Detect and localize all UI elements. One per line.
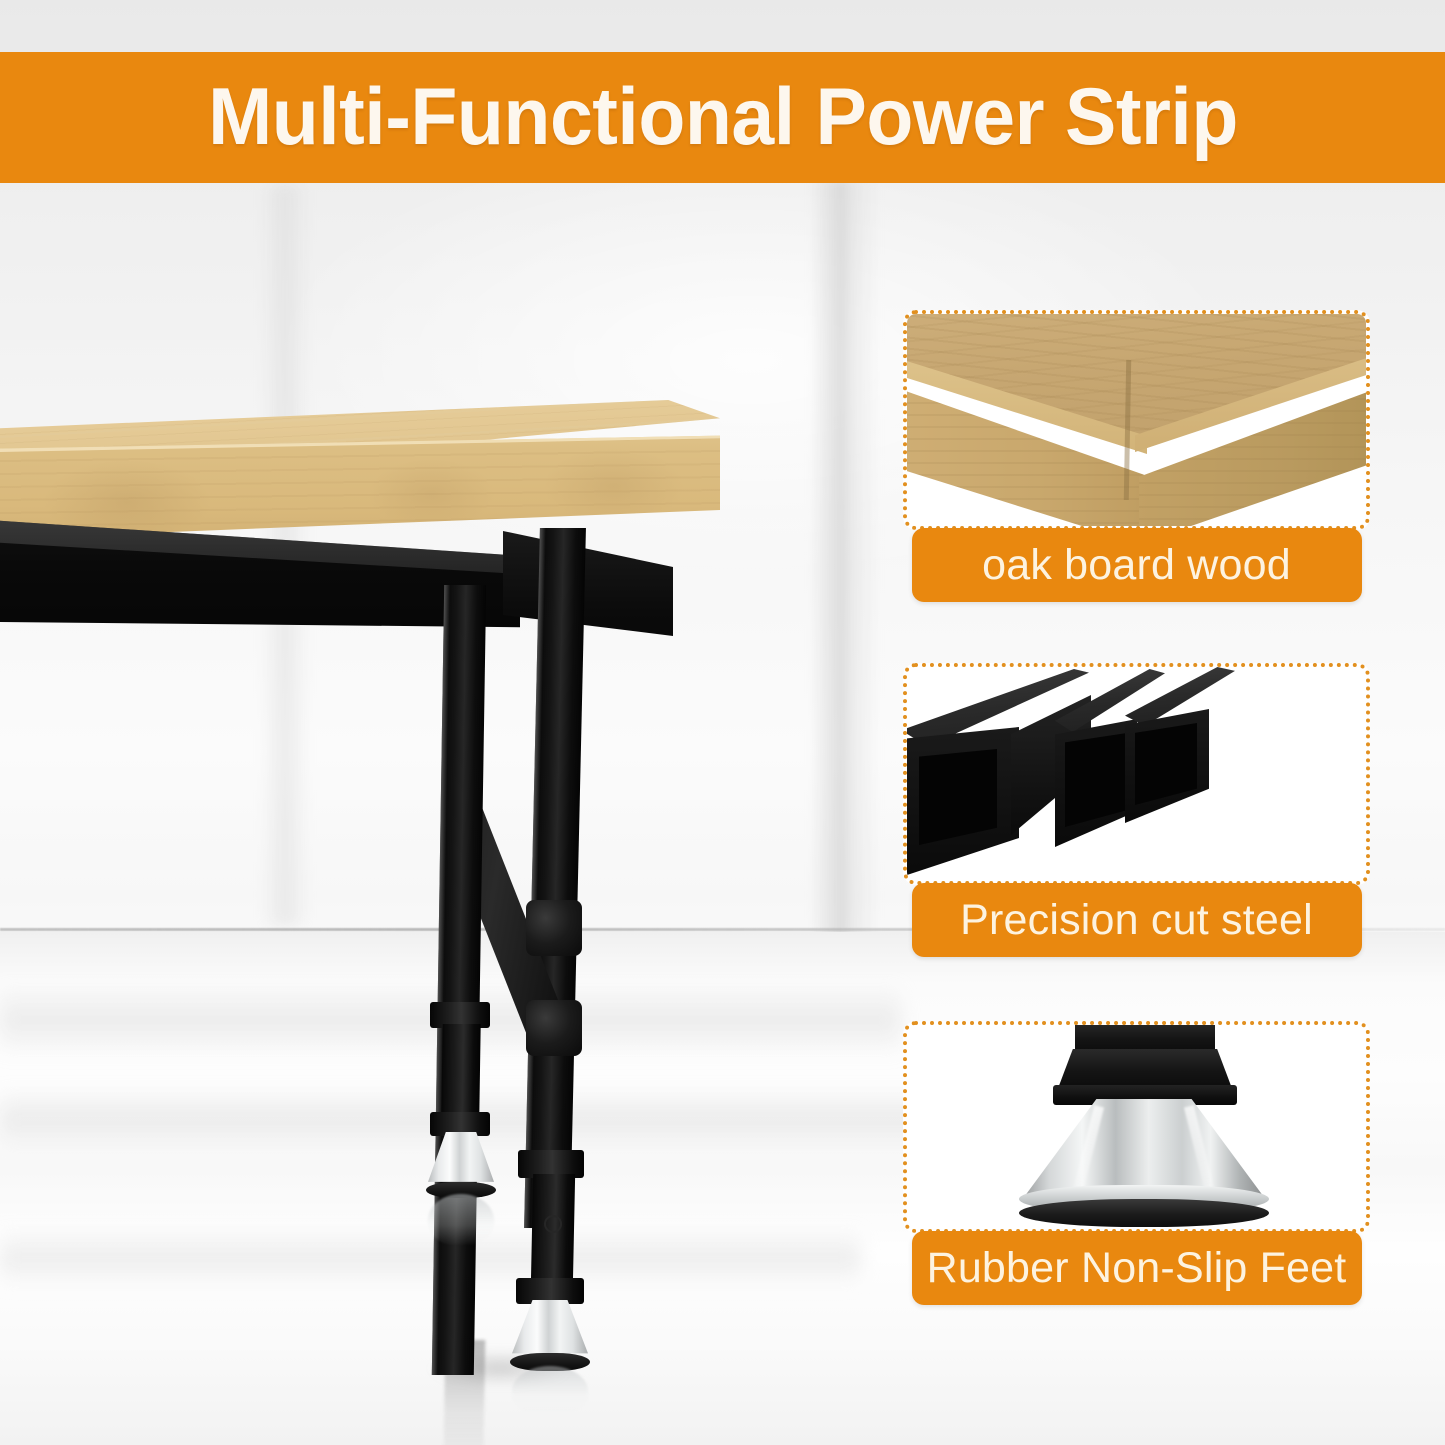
feature-card-rubber-non-slip-feet[interactable]: Rubber Non-Slip Feet bbox=[903, 1021, 1370, 1305]
steel-tubes-illustration bbox=[907, 667, 1366, 881]
leg-rear-screw-mark bbox=[544, 1215, 562, 1233]
leg-rear-foot-reflection bbox=[512, 1366, 588, 1416]
feature-card-3-label-text: Rubber Non-Slip Feet bbox=[927, 1247, 1347, 1290]
feature-card-2-label-text: Precision cut steel bbox=[960, 899, 1313, 942]
leg-front-foot-reflection bbox=[428, 1194, 494, 1246]
frame-apron-side bbox=[503, 528, 673, 678]
feature-card-precision-cut-steel[interactable]: Precision cut steel bbox=[903, 663, 1370, 957]
feature-card-1-label-text: oak board wood bbox=[982, 544, 1291, 587]
feature-card-3-label: Rubber Non-Slip Feet bbox=[912, 1231, 1362, 1305]
feature-card-oak-board-wood[interactable]: oak board wood bbox=[903, 310, 1370, 602]
backdrop-seam-right bbox=[810, 180, 880, 940]
feature-card-3-photo bbox=[903, 1021, 1370, 1233]
page-title-banner: Multi-Functional Power Strip bbox=[0, 52, 1445, 183]
product-feature-page: Multi-Functional Power Strip bbox=[0, 0, 1445, 1445]
leg-rear-adjust-knob-lower bbox=[526, 1000, 582, 1056]
page-title: Multi-Functional Power Strip bbox=[208, 77, 1238, 158]
leg-front-highlight bbox=[432, 585, 450, 1375]
leveling-foot-illustration bbox=[907, 1025, 1366, 1229]
oak-board-illustration bbox=[907, 314, 1366, 526]
leg-rear-highlight bbox=[524, 528, 546, 1228]
leg-rear bbox=[524, 528, 586, 1228]
feature-card-1-label: oak board wood bbox=[912, 528, 1362, 602]
feature-card-1-photo bbox=[903, 310, 1370, 530]
feature-card-2-label: Precision cut steel bbox=[912, 883, 1362, 957]
leg-front bbox=[432, 585, 486, 1375]
workbench-product-image bbox=[0, 400, 760, 1360]
leg-front-extension bbox=[441, 1024, 480, 1116]
leg-rear-adjust-knob-upper bbox=[526, 900, 582, 956]
foot-rubber-pad bbox=[1019, 1199, 1269, 1227]
feature-card-2-photo bbox=[903, 663, 1370, 885]
